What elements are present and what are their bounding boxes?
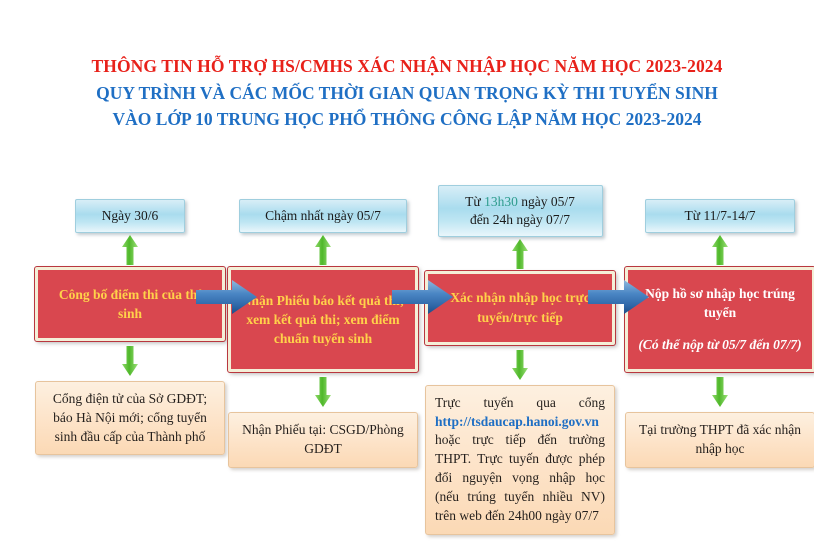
flow-column-2: Chậm nhất ngày 05/7 Nhận Phiếu báo kết q… <box>228 185 418 468</box>
date-box-2-text: Chậm nhất ngày 05/7 <box>265 208 381 223</box>
arrow-up-icon-1 <box>121 235 139 265</box>
flowchart: Ngày 30/6 Công bố điểm thi của thí sinh … <box>0 185 814 545</box>
arrow-down-icon-1 <box>121 346 139 376</box>
date-box-1-text: Ngày 30/6 <box>102 208 159 223</box>
date-box-3-prefix: Từ <box>465 194 484 209</box>
arrow-up-icon-2 <box>314 235 332 265</box>
process-box-3-text: Xác nhận nhập học trực tuyến/trực tiếp <box>436 288 604 326</box>
process-box-2-text: Nhận Phiếu báo kết quả thi; xem kết quả … <box>239 291 407 348</box>
date-box-2: Chậm nhất ngày 05/7 <box>239 199 407 233</box>
process-box-4: Nộp hồ sơ nhập học trúng tuyển (Có thể n… <box>625 267 814 372</box>
arrow-right-icon-3 <box>588 277 650 317</box>
detail-box-3: Trực tuyến qua cổng http://tsdaucap.hano… <box>425 385 615 535</box>
date-box-1: Ngày 30/6 <box>75 199 185 233</box>
flow-column-3: Từ 13h30 ngày 05/7 đến 24h ngày 07/7 Xác… <box>425 185 615 535</box>
detail-box-2-text: Nhận Phiếu tại: CSGD/Phòng GDĐT <box>242 422 404 456</box>
page-title-main: THÔNG TIN HỖ TRỢ HS/CMHS XÁC NHẬN NHẬP H… <box>0 55 814 79</box>
detail-box-3-text-before-url: Trực tuyến qua cổng <box>435 395 605 410</box>
detail-box-3-text-after-url: hoặc trực tiếp đến trường THPT. Trực tuy… <box>435 432 605 523</box>
process-box-4-note: (Có thể nộp từ 05/7 đến 07/7) <box>638 336 801 355</box>
detail-box-4-text: Tại trường THPT đã xác nhận nhập học <box>639 422 801 456</box>
flow-column-1: Ngày 30/6 Công bố điểm thi của thí sinh … <box>35 185 225 455</box>
date-box-3-time-accent: 13h30 <box>484 194 518 209</box>
date-box-4: Từ 11/7-14/7 <box>645 199 795 233</box>
detail-box-3-url[interactable]: http://tsdaucap.hanoi.gov.vn <box>435 414 599 429</box>
date-box-3: Từ 13h30 ngày 05/7 đến 24h ngày 07/7 <box>438 185 603 237</box>
arrow-down-icon-4 <box>711 377 729 407</box>
date-box-4-text: Từ 11/7-14/7 <box>685 208 756 223</box>
page-title-sub-line2: VÀO LỚP 10 TRUNG HỌC PHỔ THÔNG CÔNG LẬP … <box>0 107 814 132</box>
detail-box-1: Cổng điện tử của Sở GDĐT; báo Hà Nội mới… <box>35 381 225 456</box>
process-box-1-text: Công bố điểm thi của thí sinh <box>46 285 214 323</box>
arrow-right-icon-1 <box>196 277 258 317</box>
flow-column-4: Từ 11/7-14/7 Nộp hồ sơ nhập học trúng tu… <box>625 185 814 468</box>
arrow-up-icon-4 <box>711 235 729 265</box>
arrow-down-icon-3 <box>511 350 529 380</box>
detail-box-2: Nhận Phiếu tại: CSGD/Phòng GDĐT <box>228 412 418 468</box>
date-box-3-line1: Từ 13h30 ngày 05/7 <box>443 193 598 211</box>
date-box-3-suffix: ngày 05/7 <box>518 194 575 209</box>
arrow-up-icon-3 <box>511 239 529 269</box>
process-box-4-text: Nộp hồ sơ nhập học trúng tuyển <box>636 284 804 322</box>
arrow-down-icon-2 <box>314 377 332 407</box>
detail-box-4: Tại trường THPT đã xác nhận nhập học <box>625 412 814 468</box>
detail-box-1-text: Cổng điện tử của Sở GDĐT; báo Hà Nội mới… <box>53 391 207 444</box>
page-title-sub-line1: QUY TRÌNH VÀ CÁC MỐC THỜI GIAN QUAN TRỌN… <box>0 81 814 106</box>
title-block: THÔNG TIN HỖ TRỢ HS/CMHS XÁC NHẬN NHẬP H… <box>0 55 814 132</box>
date-box-3-line2: đến 24h ngày 07/7 <box>443 211 598 229</box>
arrow-right-icon-2 <box>392 277 454 317</box>
